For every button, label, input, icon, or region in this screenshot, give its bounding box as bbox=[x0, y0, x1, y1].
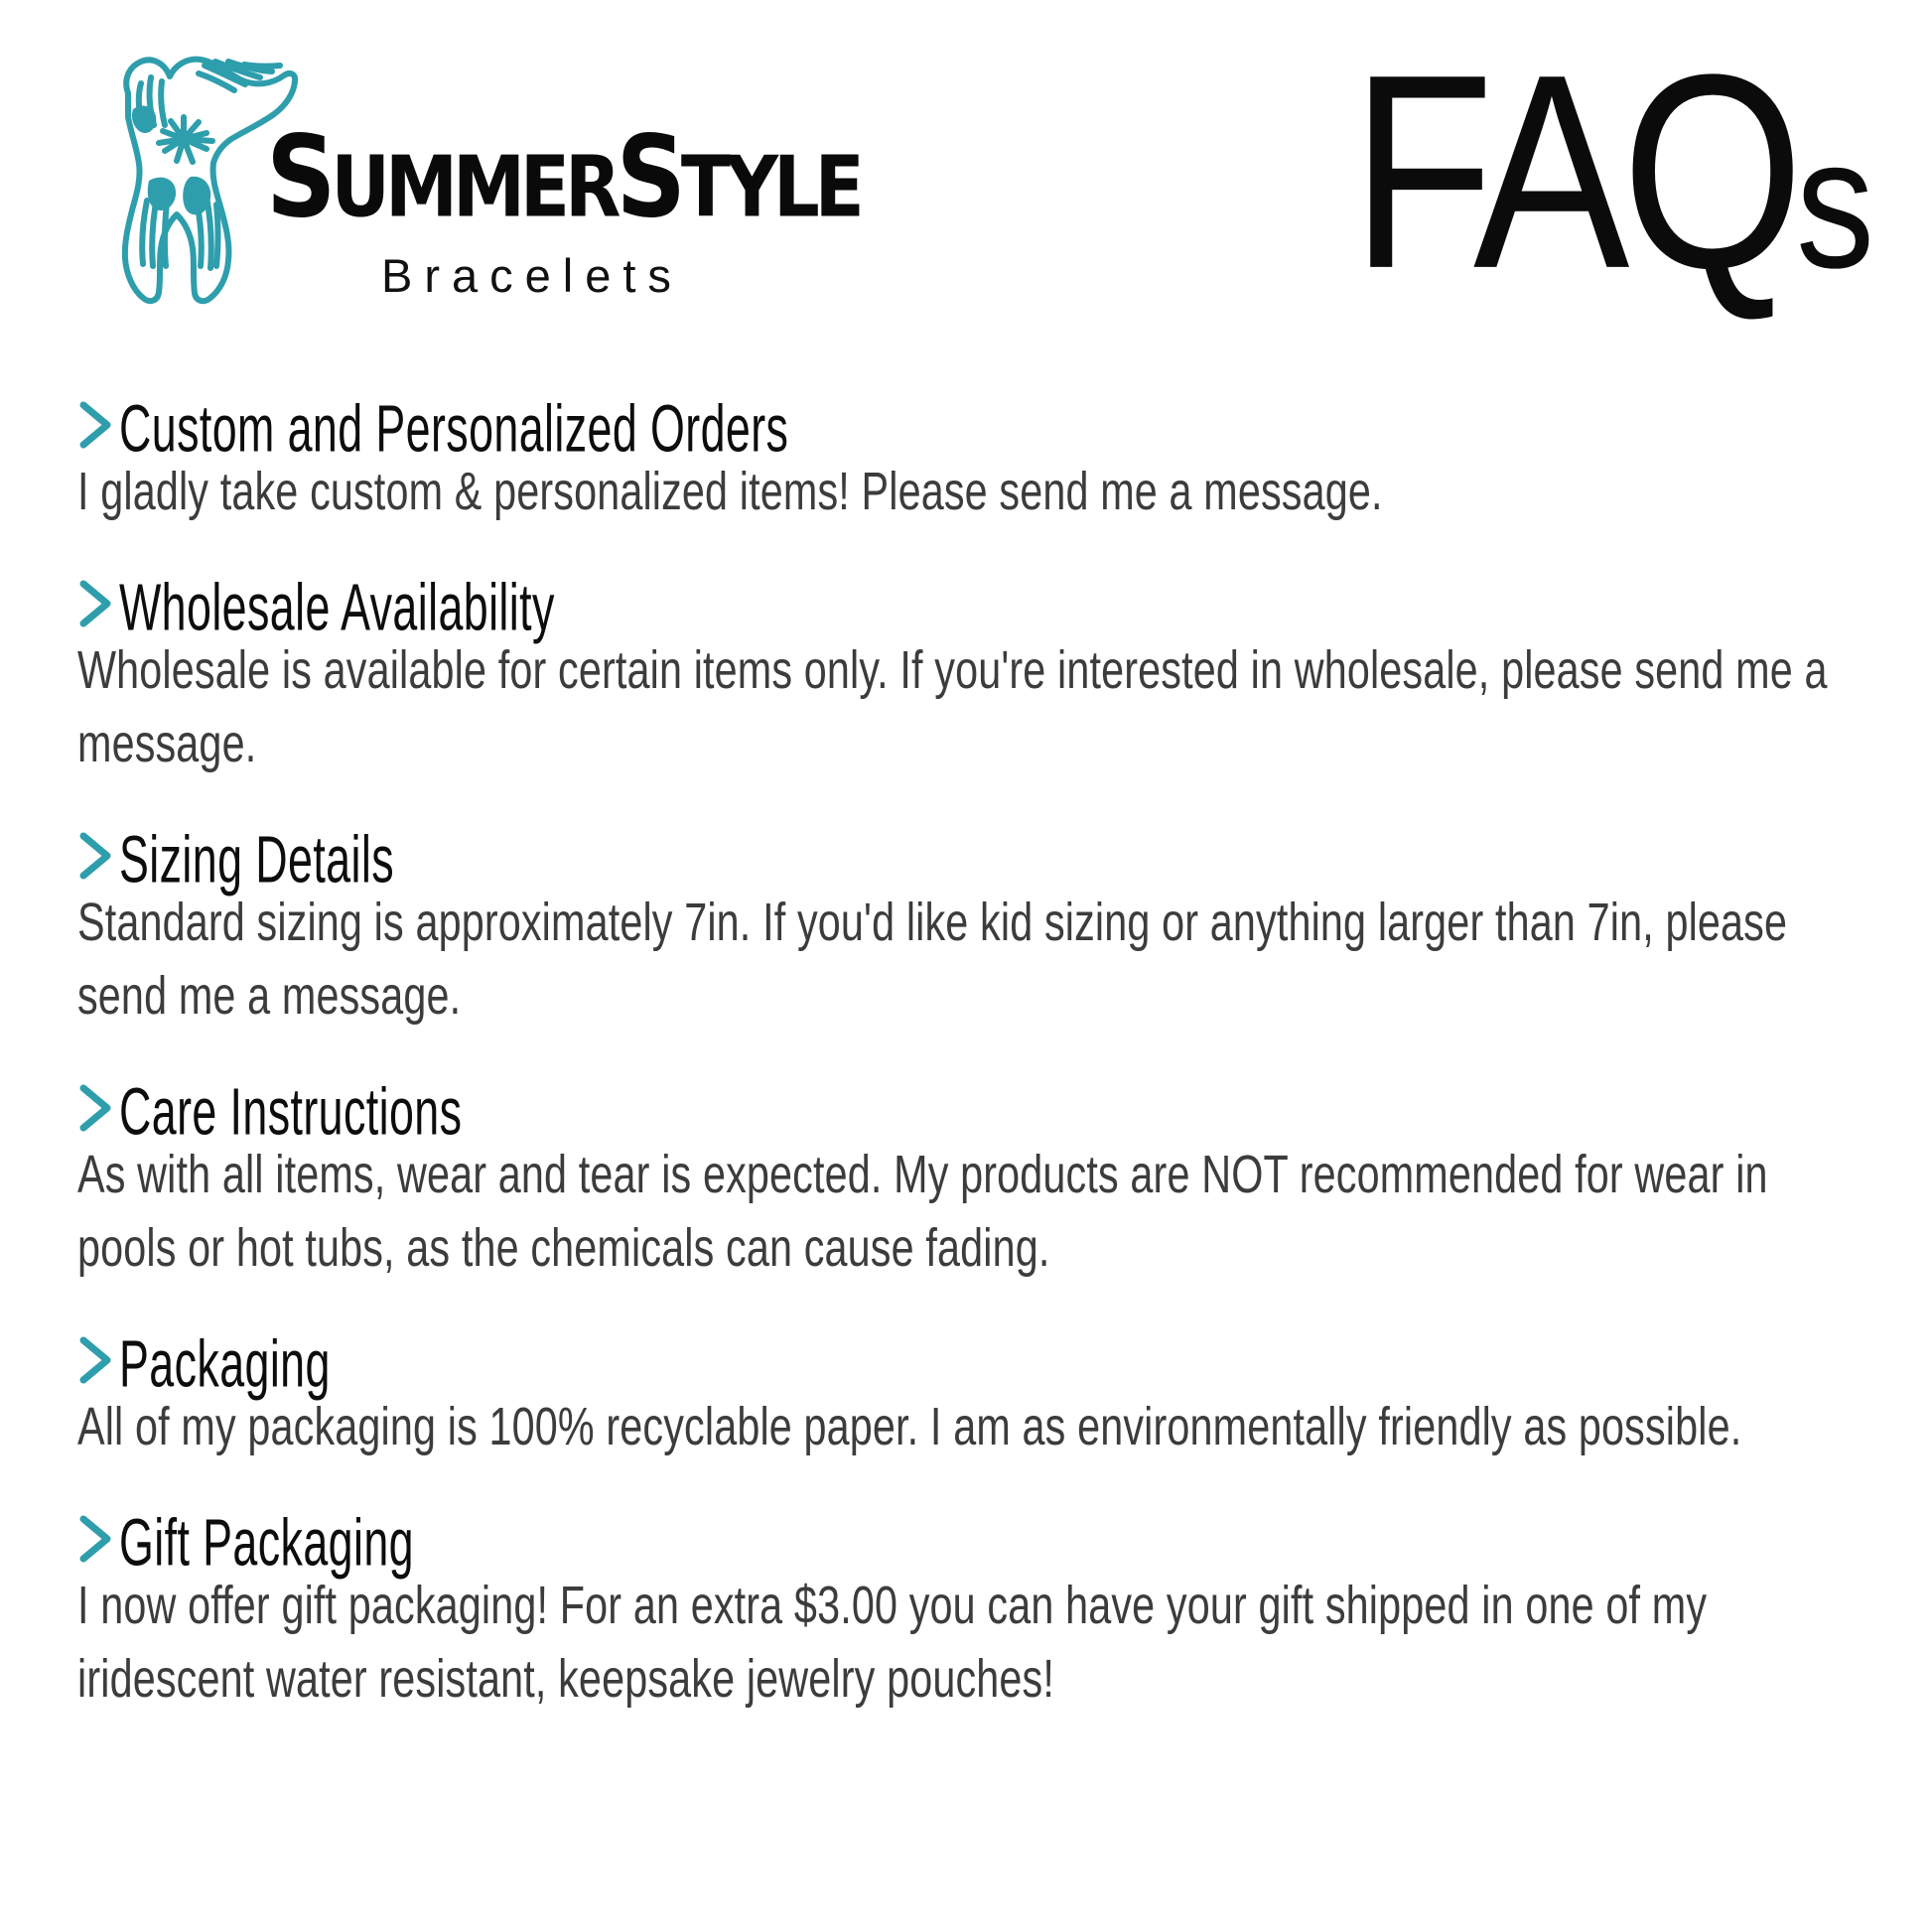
chevron-right-icon bbox=[77, 578, 113, 629]
chevron-right-icon bbox=[77, 1082, 113, 1134]
wordmark-tyle: TYLE bbox=[681, 138, 860, 236]
faq-heading: Custom and Personalized Orders bbox=[119, 395, 788, 462]
chevron-right-icon bbox=[77, 1334, 113, 1386]
wordmark-s2: S bbox=[616, 112, 680, 243]
faq-heading-row[interactable]: Care Instructions bbox=[77, 1078, 1864, 1134]
faq-heading-row[interactable]: Custom and Personalized Orders bbox=[77, 395, 1864, 451]
page-title-suffix: s bbox=[1796, 100, 1870, 307]
page-title-main: FAQ bbox=[1351, 17, 1796, 327]
chevron-right-icon bbox=[77, 1513, 113, 1565]
faq-list: Custom and Personalized Orders I gladly … bbox=[77, 395, 1864, 1716]
faq-body: I now offer gift packaging! For an extra… bbox=[77, 1569, 1868, 1716]
faq-heading: Packaging bbox=[119, 1330, 331, 1397]
faq-item-packaging: Packaging All of my packaging is 100% re… bbox=[77, 1330, 1864, 1463]
chevron-right-icon bbox=[77, 399, 113, 451]
faq-heading: Gift Packaging bbox=[119, 1509, 414, 1576]
faq-body: As with all items, wear and tear is expe… bbox=[77, 1138, 1868, 1285]
faq-heading: Wholesale Availability bbox=[119, 574, 555, 640]
faq-heading: Sizing Details bbox=[119, 826, 394, 893]
faq-item-sizing: Sizing Details Standard sizing is approx… bbox=[77, 826, 1864, 1033]
faq-heading-row[interactable]: Packaging bbox=[77, 1330, 1864, 1386]
brand-wordmark: SUMMERSTYLE bbox=[266, 121, 833, 243]
brand-logo: SUMMERSTYLE Bracelets bbox=[71, 22, 826, 320]
faq-page: SUMMERSTYLE Bracelets FAQs Custom and Pe… bbox=[0, 0, 1932, 1932]
faq-body: Wholesale is available for certain items… bbox=[77, 633, 1868, 780]
brand-subtitle: Bracelets bbox=[381, 248, 683, 303]
faq-heading-row[interactable]: Wholesale Availability bbox=[77, 574, 1864, 629]
faq-item-care: Care Instructions As with all items, wea… bbox=[77, 1078, 1864, 1285]
wordmark-ummer: UMMER bbox=[331, 138, 616, 236]
faq-heading: Care Instructions bbox=[119, 1078, 462, 1145]
wordmark-s1: S bbox=[266, 112, 331, 243]
faq-body: Standard sizing is approximately 7in. If… bbox=[77, 886, 1868, 1033]
faq-item-custom-orders: Custom and Personalized Orders I gladly … bbox=[77, 395, 1864, 528]
page-header: SUMMERSTYLE Bracelets FAQs bbox=[0, 0, 1932, 328]
brand-wordmark-group: SUMMERSTYLE Bracelets bbox=[266, 121, 822, 310]
faq-item-wholesale: Wholesale Availability Wholesale is avai… bbox=[77, 574, 1864, 780]
page-title: FAQs bbox=[1351, 34, 1870, 342]
faq-heading-row[interactable]: Gift Packaging bbox=[77, 1509, 1864, 1565]
chevron-right-icon bbox=[77, 830, 113, 882]
faq-body: All of my packaging is 100% recyclable p… bbox=[77, 1390, 1868, 1463]
faq-item-gift-packaging: Gift Packaging I now offer gift packagin… bbox=[77, 1509, 1864, 1716]
faq-body: I gladly take custom & personalized item… bbox=[77, 455, 1868, 528]
faq-heading-row[interactable]: Sizing Details bbox=[77, 826, 1864, 882]
